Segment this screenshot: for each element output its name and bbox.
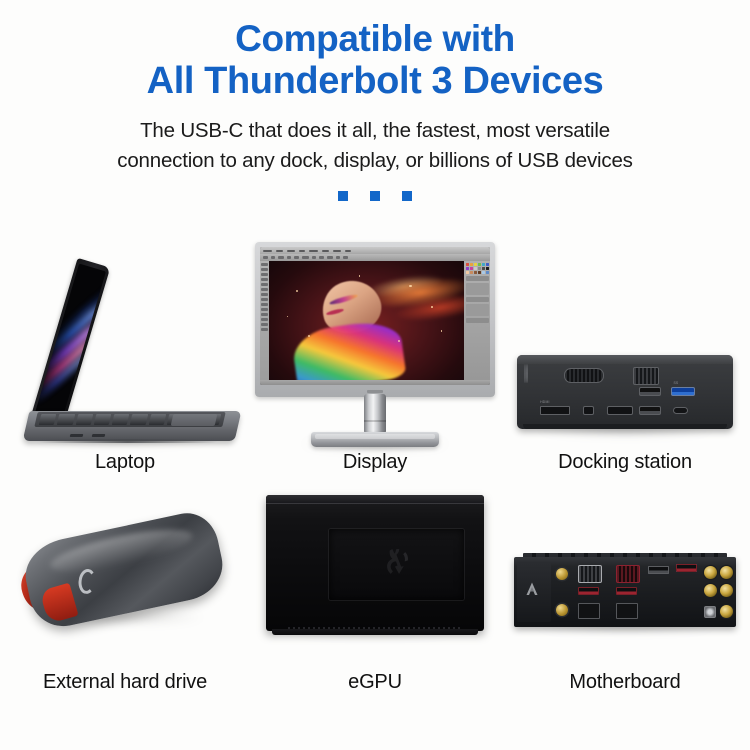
dock-port-mini-displayport-icon — [583, 406, 594, 415]
ssd-red-edge — [39, 582, 79, 624]
dock-port-usb-c-icon — [673, 407, 688, 414]
motherboard-shroud — [517, 563, 551, 622]
motherboard-io-panel — [514, 557, 736, 627]
device-label-display: Display — [343, 451, 407, 478]
motherboard-audio-jack-icon — [720, 566, 733, 579]
laptop-trackpad — [171, 414, 218, 426]
device-label-external-hard-drive: External hard drive — [43, 671, 207, 728]
motherboard-spdif-optical-icon — [704, 606, 716, 618]
egpu-chassis — [266, 495, 484, 631]
egpu-top-lip — [266, 495, 484, 504]
dot-square-icon — [402, 191, 412, 201]
device-label-docking-station: Docking station — [558, 451, 692, 478]
motherboard-illustration — [500, 478, 750, 671]
dock-port-usb-a-2-icon — [639, 406, 661, 415]
motherboard-ethernet-port-icon — [578, 565, 602, 583]
device-label-laptop: Laptop — [95, 451, 155, 478]
headline-line-1: Compatible with — [0, 18, 750, 60]
header: Compatible with All Thunderbolt 3 Device… — [0, 0, 750, 201]
device-cell-display: Display — [250, 228, 500, 478]
dock-label-hdmi: HDMI — [540, 400, 549, 404]
photo-editor-toolbar — [260, 261, 269, 380]
ssd-highlight — [48, 521, 196, 580]
device-label-motherboard: Motherboard — [569, 671, 680, 728]
motherboard-usb-port-icon — [578, 587, 599, 595]
monitor-brand-logo-icon — [367, 390, 383, 393]
monitor-stand-neck — [364, 394, 386, 434]
motherboard-usb-port-icon — [616, 587, 637, 595]
egpu-illustration — [250, 478, 500, 671]
dock-top-edge — [517, 355, 733, 364]
device-cell-docking-station: HDMI SS Docking station — [500, 228, 750, 478]
docking-station-illustration: HDMI SS — [500, 228, 750, 451]
device-grid: Laptop — [0, 228, 750, 750]
photo-editor-menu-bar — [260, 247, 490, 254]
dock-port-ethernet-icon — [633, 367, 659, 385]
dock-rear-panel: HDMI SS — [524, 365, 726, 421]
dock-chassis: HDMI SS — [517, 355, 733, 429]
device-cell-external-hard-drive: External hard drive — [0, 478, 250, 728]
laptop-illustration — [0, 228, 250, 451]
ssd-brand-mark-icon — [77, 568, 97, 595]
photo-editor-options-bar — [260, 254, 490, 261]
dock-bottom-edge — [523, 424, 727, 429]
laptop-foot — [38, 439, 219, 443]
external-hard-drive-illustration — [0, 478, 250, 671]
razer-logo-icon — [380, 549, 414, 579]
motherboard-display-port-icon — [616, 603, 638, 619]
dock-port-hdmi-icon — [540, 406, 570, 415]
dock-port-displayport-icon — [607, 406, 633, 415]
subtitle-line-2: connection to any dock, display, or bill… — [0, 146, 750, 175]
motherboard-audio-jack-icon — [720, 584, 733, 597]
motherboard-audio-jack-icon — [720, 605, 733, 618]
laptop-port-left — [70, 434, 84, 437]
aorus-eagle-logo-icon — [524, 581, 540, 597]
device-cell-motherboard: Motherboard — [500, 478, 750, 728]
device-label-egpu: eGPU — [348, 671, 402, 728]
monitor-bezel — [255, 242, 495, 397]
motherboard-hdmi-port-icon — [578, 603, 600, 619]
motherboard-audio-jack-icon — [704, 566, 717, 579]
egpu-side-panel — [329, 529, 464, 600]
motherboard-antenna-connector-icon — [556, 568, 568, 580]
dock-port-vga-icon — [564, 368, 604, 383]
dock-port-usb-a-1-icon — [639, 387, 661, 396]
monitor-screen — [260, 247, 490, 385]
motherboard-usb-3-1-icon — [676, 564, 697, 572]
photo-editor-status-bar — [260, 380, 490, 385]
egpu-foot — [272, 629, 478, 635]
dock-label-usb-3-0: SS — [673, 381, 678, 385]
motherboard-usb-a-icon — [648, 566, 669, 574]
dot-square-icon — [338, 191, 348, 201]
device-cell-laptop: Laptop — [0, 228, 250, 478]
dot-square-icon — [370, 191, 380, 201]
photo-editor-swatch-panels — [464, 261, 490, 380]
monitor-stand-base — [311, 432, 439, 447]
motherboard-ethernet-port-red-icon — [616, 565, 640, 583]
display-illustration — [250, 228, 500, 451]
motherboard-antenna-connector-icon — [556, 604, 568, 616]
separator-dots — [0, 191, 750, 201]
laptop-port-right — [92, 434, 106, 437]
dock-port-usb-3-0-icon — [671, 387, 695, 396]
motherboard-audio-jack-icon — [704, 584, 717, 597]
laptop-lid — [30, 258, 110, 429]
headline-line-2: All Thunderbolt 3 Devices — [0, 60, 750, 103]
laptop-screen — [35, 264, 106, 422]
subtitle-line-1: The USB-C that does it all, the fastest,… — [0, 116, 750, 145]
dock-port-power-icon — [526, 364, 528, 383]
device-cell-egpu: eGPU — [250, 478, 500, 728]
photo-editor-canvas — [269, 261, 464, 380]
